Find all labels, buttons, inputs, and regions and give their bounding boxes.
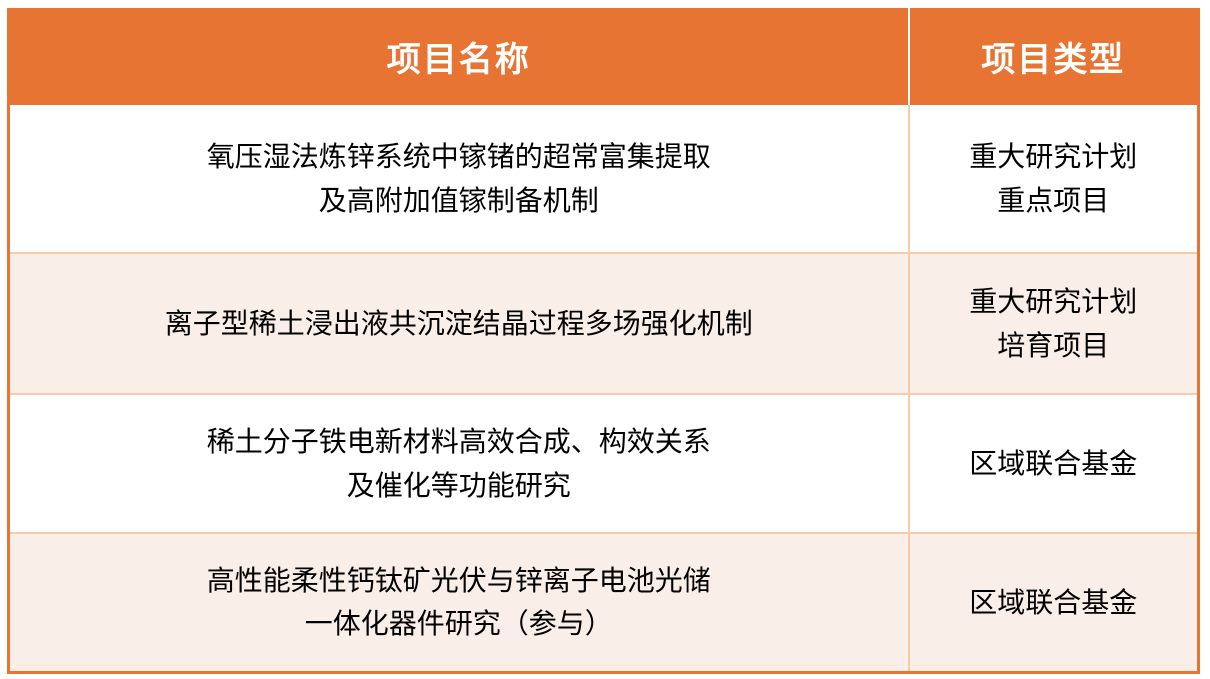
project-type-line: 重点项目: [924, 179, 1184, 222]
table-row: 高性能柔性钙钛矿光伏与锌离子电池光储 一体化器件研究（参与） 区域联合基金: [9, 533, 1199, 672]
cell-project-name: 离子型稀土浸出液共沉淀结晶过程多场强化机制: [9, 253, 909, 394]
page-root: 项目名称 项目类型 氧压湿法炼锌系统中镓锗的超常富集提取 及高附加值镓制备机制 …: [0, 0, 1210, 679]
project-name-line: 高性能柔性钙钛矿光伏与锌离子电池光储: [24, 559, 894, 602]
cell-project-type: 区域联合基金: [909, 533, 1199, 672]
project-name-line: 及高附加值镓制备机制: [24, 179, 894, 222]
table-row: 氧压湿法炼锌系统中镓锗的超常富集提取 及高附加值镓制备机制 重大研究计划 重点项…: [9, 105, 1199, 253]
table-header: 项目名称 项目类型: [9, 8, 1199, 105]
project-list-table: 项目名称 项目类型 氧压湿法炼锌系统中镓锗的超常富集提取 及高附加值镓制备机制 …: [7, 8, 1200, 674]
project-name-line: 及催化等功能研究: [24, 464, 894, 507]
project-name-line: 离子型稀土浸出液共沉淀结晶过程多场强化机制: [24, 302, 894, 345]
cell-project-name: 高性能柔性钙钛矿光伏与锌离子电池光储 一体化器件研究（参与）: [9, 533, 909, 672]
project-name-line: 一体化器件研究（参与）: [24, 602, 894, 645]
project-type-line: 区域联合基金: [924, 581, 1184, 624]
project-name-line: 氧压湿法炼锌系统中镓锗的超常富集提取: [24, 135, 894, 178]
cell-project-name: 氧压湿法炼锌系统中镓锗的超常富集提取 及高附加值镓制备机制: [9, 105, 909, 253]
cell-project-type: 重大研究计划 重点项目: [909, 105, 1199, 253]
project-type-line: 重大研究计划: [924, 135, 1184, 178]
cell-project-type: 区域联合基金: [909, 394, 1199, 533]
table-row: 离子型稀土浸出液共沉淀结晶过程多场强化机制 重大研究计划 培育项目: [9, 253, 1199, 394]
cell-project-type: 重大研究计划 培育项目: [909, 253, 1199, 394]
project-type-line: 重大研究计划: [924, 280, 1184, 323]
column-header-project-type: 项目类型: [909, 8, 1199, 105]
column-header-project-name: 项目名称: [9, 8, 909, 105]
cell-project-name: 稀土分子铁电新材料高效合成、构效关系 及催化等功能研究: [9, 394, 909, 533]
project-name-line: 稀土分子铁电新材料高效合成、构效关系: [24, 420, 894, 463]
table-header-row: 项目名称 项目类型: [9, 8, 1199, 105]
project-type-line: 培育项目: [924, 324, 1184, 367]
table-body: 氧压湿法炼锌系统中镓锗的超常富集提取 及高附加值镓制备机制 重大研究计划 重点项…: [9, 105, 1199, 672]
table-row: 稀土分子铁电新材料高效合成、构效关系 及催化等功能研究 区域联合基金: [9, 394, 1199, 533]
project-type-line: 区域联合基金: [924, 442, 1184, 485]
